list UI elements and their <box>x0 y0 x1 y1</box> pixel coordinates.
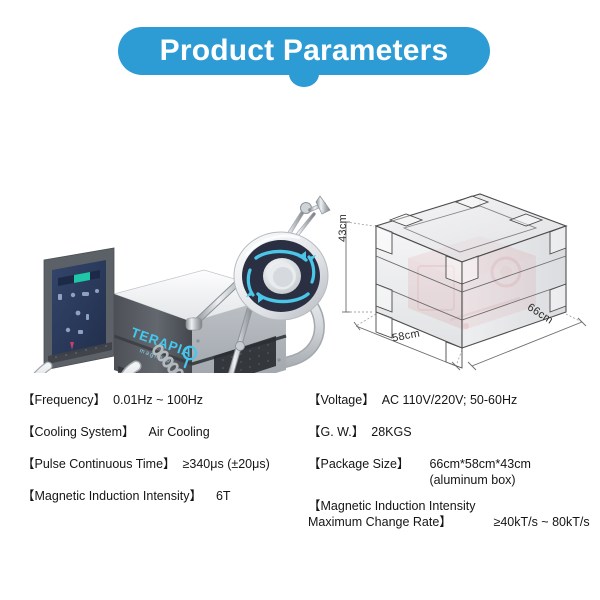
spec-column-left: 【Frequency】 0.01Hz ~ 100Hz 【Cooling Syst… <box>22 392 302 520</box>
spec-row-frequency: 【Frequency】 0.01Hz ~ 100Hz <box>22 392 302 408</box>
spec-value: ≥340μs (±20μs) <box>183 456 270 472</box>
page-title: Product Parameters <box>118 27 490 75</box>
package-dimension-diagram: 43cm 58cm 66cm <box>330 180 598 372</box>
touchscreen-monitor[interactable] <box>44 248 114 370</box>
product-illustration: TERAPIA magneto <box>18 98 338 373</box>
spec-key: 【Cooling System】 <box>22 424 135 440</box>
spec-row-voltage: 【Voltage】 AC 110V/220V; 50-60Hz <box>308 392 598 408</box>
spec-row-package-size: 【Package Size】 66cm*58cm*43cm (aluminum … <box>308 456 598 488</box>
spec-value: 6T <box>216 488 231 504</box>
spec-key: 【G. W.】 <box>308 424 364 440</box>
dimension-height-label: 43cm <box>337 214 349 242</box>
spec-key: 【Pulse Continuous Time】 <box>22 456 176 472</box>
spec-row-cooling-system: 【Cooling System】 Air Cooling <box>22 424 302 440</box>
spec-row-max-change-rate: 【Magnetic Induction Intensity Maximum Ch… <box>308 498 598 530</box>
spec-key: 【Magnetic Induction Intensity Maximum Ch… <box>308 498 475 530</box>
spec-value: ≥40kT/s ~ 80kT/s <box>493 514 589 530</box>
ring-applicator[interactable] <box>234 232 328 320</box>
page-header-banner: Product Parameters <box>118 27 490 75</box>
spec-row-pulse-continuous-time: 【Pulse Continuous Time】 ≥340μs (±20μs) <box>22 456 302 472</box>
spec-value: 66cm*58cm*43cm (aluminum box) <box>429 456 530 488</box>
spec-key: 【Voltage】 <box>308 392 375 408</box>
spec-value: 28KGS <box>371 424 411 440</box>
spec-row-gross-weight: 【G. W.】 28KGS <box>308 424 598 440</box>
spec-value: 0.01Hz ~ 100Hz <box>113 392 203 408</box>
spec-key: 【Package Size】 <box>308 456 409 472</box>
specifications-section: 【Frequency】 0.01Hz ~ 100Hz 【Cooling Syst… <box>0 392 600 572</box>
spec-key: 【Frequency】 <box>22 392 106 408</box>
spec-row-magnetic-induction-intensity: 【Magnetic Induction Intensity】 6T <box>22 488 302 504</box>
product-photo: TERAPIA magneto <box>18 98 338 373</box>
spec-value: Air Cooling <box>149 424 210 440</box>
package-box-illustration <box>330 180 598 372</box>
spec-key: 【Magnetic Induction Intensity】 <box>22 488 202 504</box>
spec-value: AC 110V/220V; 50-60Hz <box>382 392 518 408</box>
spec-column-right: 【Voltage】 AC 110V/220V; 50-60Hz 【G. W.】 … <box>308 392 598 546</box>
